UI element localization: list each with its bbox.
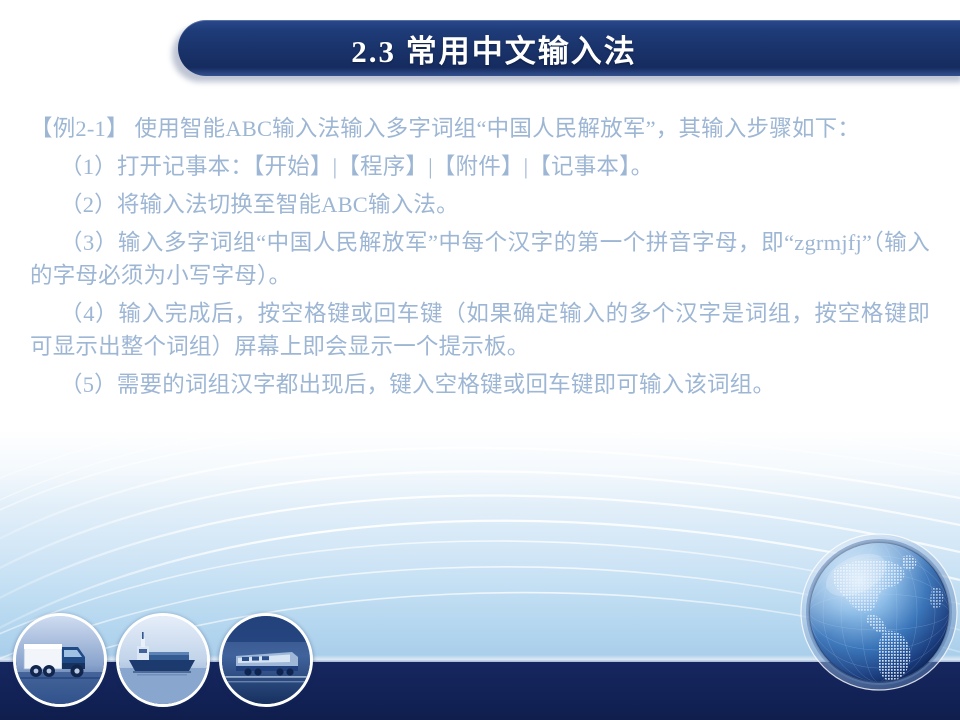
paragraph-step-3: （3）输入多字词组“中国人民解放军”中每个汉字的第一个拼音字母，即“zgrmjf… (30, 226, 930, 292)
title-bar: 2.3 常用中文输入法 (178, 20, 960, 76)
truck-photo (13, 613, 107, 707)
paragraph-example-intro: 【例2-1】 使用智能ABC输入法输入多字词组“中国人民解放军”，其输入步骤如下… (30, 112, 930, 145)
page-title: 2.3 常用中文输入法 (351, 26, 787, 71)
paragraph-step-2: （2）将输入法切换至智能ABC输入法。 (30, 188, 930, 221)
ship-photo (116, 613, 210, 707)
train-photo (219, 613, 313, 707)
paragraph-step-1: （1）打开记事本：【开始】|【程序】|【附件】|【记事本】。 (30, 150, 930, 183)
paragraph-step-4: （4）输入完成后，按空格键或回车键（如果确定输入的多个汉字是词组，按空格键即可显… (30, 297, 930, 363)
paragraph-step-5: （5）需要的词组汉字都出现后，键入空格键或回车键即可输入该词组。 (30, 368, 930, 401)
slide: 2.3 常用中文输入法 【例2-1】 使用智能ABC输入法输入多字词组“中国人民… (0, 0, 960, 720)
content-body: 【例2-1】 使用智能ABC输入法输入多字词组“中国人民解放军”，其输入步骤如下… (30, 112, 930, 406)
globe-graphic (798, 531, 960, 693)
